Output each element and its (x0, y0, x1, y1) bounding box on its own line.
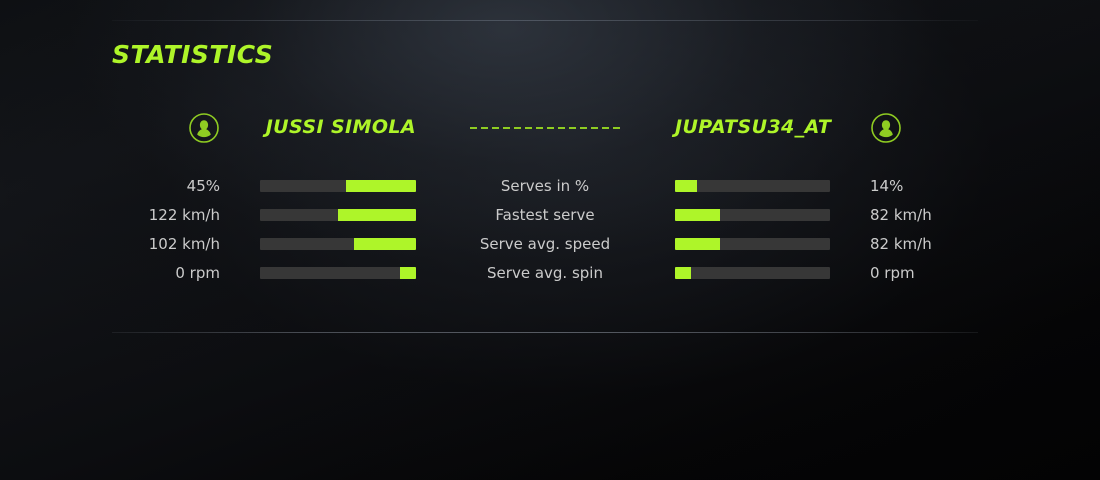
right-stat-value: 0 rpm (870, 263, 990, 283)
left-stat-bar-fill (354, 238, 416, 250)
right-stat-bar (675, 180, 830, 192)
right-stat-bar (675, 267, 830, 279)
left-stat-bar (260, 267, 416, 279)
stat-row: 122 km/h Fastest serve 82 km/h (112, 205, 978, 234)
right-stat-value: 82 km/h (870, 234, 990, 254)
panel-top-divider (112, 20, 978, 21)
right-stat-bar-fill (675, 238, 720, 250)
right-stat-bar-fill (675, 180, 697, 192)
stat-label: Serves in % (412, 176, 678, 196)
panel-bottom-divider (112, 332, 978, 333)
right-stat-bar (675, 238, 830, 250)
person-avatar-icon (870, 112, 902, 144)
left-player-name: JUSSI SIMOLA (112, 116, 416, 138)
left-stat-value: 0 rpm (112, 263, 220, 283)
right-stat-bar-fill (675, 209, 720, 221)
left-stat-bar (260, 238, 416, 250)
header-dashed-separator (470, 127, 622, 129)
page-title: STATISTICS (112, 40, 273, 69)
right-stat-value: 14% (870, 176, 990, 196)
left-stat-bar-fill (346, 180, 416, 192)
stat-row: 0 rpm Serve avg. spin 0 rpm (112, 263, 978, 292)
statistics-rows: 45% Serves in % 14% 122 km/h Fastest ser… (112, 176, 978, 292)
left-stat-bar (260, 209, 416, 221)
right-stat-bar-fill (675, 267, 691, 279)
right-stat-value: 82 km/h (870, 205, 990, 225)
right-stat-bar (675, 209, 830, 221)
left-stat-bar (260, 180, 416, 192)
players-header-row: JUSSI SIMOLA JUPATSU34_AT (112, 112, 978, 146)
stat-label: Fastest serve (412, 205, 678, 225)
left-stat-value: 122 km/h (112, 205, 220, 225)
stat-label: Serve avg. speed (412, 234, 678, 254)
stat-row: 45% Serves in % 14% (112, 176, 978, 205)
left-stat-value: 102 km/h (112, 234, 220, 254)
stat-row: 102 km/h Serve avg. speed 82 km/h (112, 234, 978, 263)
right-player-name: JUPATSU34_AT (675, 116, 855, 138)
left-stat-bar-fill (338, 209, 416, 221)
statistics-panel: STATISTICS JUSSI SIMOLA JUPATSU34_AT 45%… (0, 0, 1100, 480)
stat-label: Serve avg. spin (412, 263, 678, 283)
left-stat-value: 45% (112, 176, 220, 196)
